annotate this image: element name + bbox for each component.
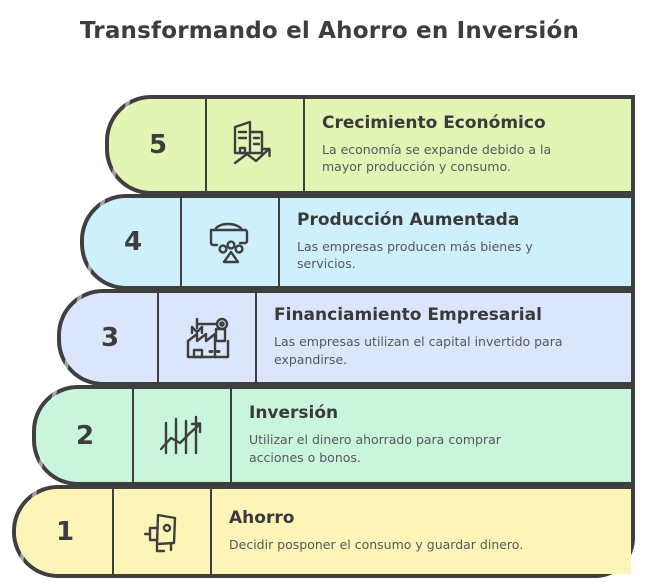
step-icon-cell-5 <box>207 99 305 191</box>
step-number-cell-4: 4 <box>84 198 182 286</box>
factory-crane-icon <box>180 312 236 364</box>
step-number-cell-2: 2 <box>36 389 134 482</box>
step-text-cell-5: Crecimiento Económico La economía se exp… <box>305 99 631 191</box>
step-row-1[interactable]: 1 Ahorro Decidir posponer el consumo y g… <box>12 485 635 578</box>
step-heading-4: Producción Aumentada <box>297 211 617 231</box>
step-heading-5: Crecimiento Económico <box>322 114 617 134</box>
step-number-3: 3 <box>101 325 119 351</box>
step-number-2: 2 <box>76 423 94 449</box>
step-row-4[interactable]: 4 Producción Aumentada Las empresas prod… <box>80 194 635 290</box>
step-description-2: Utilizar el dinero ahorrado para comprar… <box>249 431 554 467</box>
step-description-5: La economía se expande debido a la mayor… <box>322 141 590 177</box>
step-number-1: 1 <box>56 519 74 545</box>
infographic-root: Transformando el Ahorro en Inversión 5 <box>0 0 659 588</box>
step-row-5[interactable]: 5 Crecimiento Económico La economía se e… <box>105 95 635 195</box>
step-text-cell-3: Financiamiento Empresarial Las empresas … <box>257 293 631 382</box>
step-description-1: Decidir posponer el consumo y guardar di… <box>229 536 617 554</box>
step-row-2[interactable]: 2 Inversión Utilizar el dinero ahorrado … <box>32 385 635 486</box>
step-icon-cell-4 <box>182 198 280 286</box>
step-icon-cell-3 <box>159 293 257 382</box>
step-row-3[interactable]: 3 Fin <box>57 289 635 386</box>
step-icon-cell-1 <box>114 489 212 574</box>
step-heading-2: Inversión <box>249 404 617 424</box>
step-description-3: Las empresas utilizan el capital inverti… <box>274 333 574 369</box>
bar-chart-uptrend-icon <box>156 411 210 461</box>
step-text-cell-2: Inversión Utilizar el dinero ahorrado pa… <box>232 389 631 482</box>
staircase-steps: 5 Crecimiento Económico La economía se e… <box>0 0 659 588</box>
step-number-4: 4 <box>124 229 142 255</box>
buildings-growth-icon <box>228 119 284 171</box>
step-heading-3: Financiamiento Empresarial <box>274 306 617 326</box>
step-number-5: 5 <box>149 132 167 158</box>
step-icon-cell-2 <box>134 389 232 482</box>
step-description-4: Las empresas producen más bienes y servi… <box>297 238 565 274</box>
step-heading-1: Ahorro <box>229 509 617 529</box>
piggy-bank-icon <box>137 507 189 557</box>
step-number-cell-5: 5 <box>109 99 207 191</box>
step-number-cell-3: 3 <box>61 293 159 382</box>
step-number-cell-1: 1 <box>16 489 114 574</box>
basket-goods-icon <box>204 217 258 267</box>
step-text-cell-4: Producción Aumentada Las empresas produc… <box>280 198 631 286</box>
step-text-cell-1: Ahorro Decidir posponer el consumo y gua… <box>212 489 631 574</box>
